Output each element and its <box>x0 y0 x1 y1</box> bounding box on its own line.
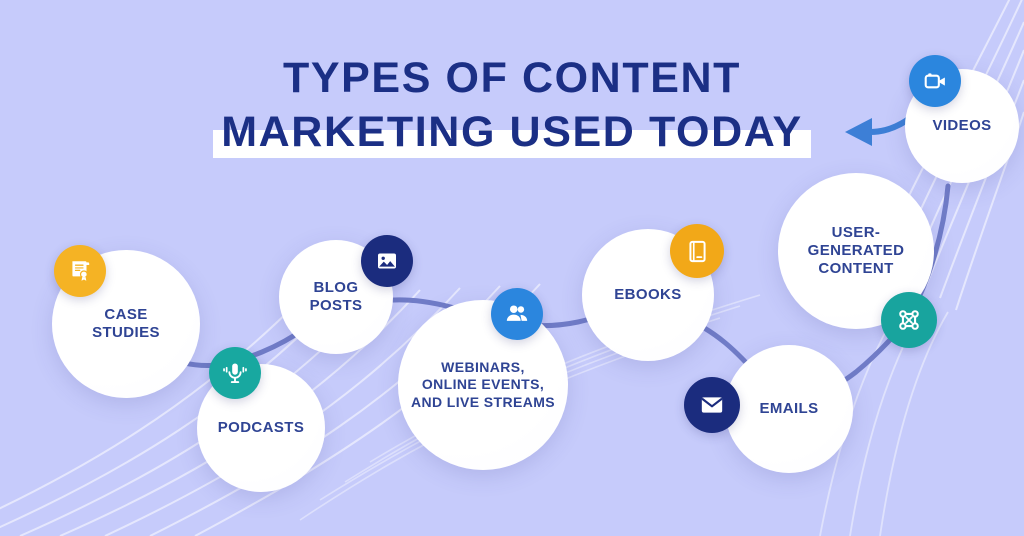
network-share-icon[interactable] <box>881 292 937 348</box>
title-highlight-band <box>213 130 811 158</box>
bubble-emails[interactable]: EMAILS <box>725 345 853 473</box>
bubble-label-case-studies: CASE STUDIES <box>86 306 166 343</box>
book-icon[interactable] <box>670 224 724 278</box>
bubble-label-user-generated-content: USER-GENERATED CONTENT <box>778 224 934 279</box>
bubble-label-ebooks: EBOOKS <box>608 286 687 304</box>
bubble-label-webinars: WEBINARS, ONLINE EVENTS, AND LIVE STREAM… <box>405 359 561 410</box>
title-line-1: TYPES OF CONTENT <box>283 52 741 104</box>
bubble-label-emails: EMAILS <box>753 400 824 418</box>
title-line-2-wrapper: MARKETING USED TODAY <box>221 106 803 158</box>
video-camera-icon[interactable] <box>909 55 961 107</box>
users-icon[interactable] <box>491 288 543 340</box>
envelope-icon[interactable] <box>684 377 740 433</box>
infographic-canvas: TYPES OF CONTENT MARKETING USED TODAY CA… <box>0 0 1024 536</box>
bubble-webinars[interactable]: WEBINARS, ONLINE EVENTS, AND LIVE STREAM… <box>398 300 568 470</box>
page-title: TYPES OF CONTENT MARKETING USED TODAY <box>0 52 1024 159</box>
image-icon[interactable] <box>361 235 413 287</box>
bubble-label-videos: VIDEOS <box>926 117 997 135</box>
bubble-label-blog-posts: BLOG POSTS <box>304 279 369 316</box>
title-line-2: MARKETING USED TODAY <box>221 106 803 158</box>
microphone-icon[interactable] <box>209 347 261 399</box>
certificate-icon[interactable] <box>54 245 106 297</box>
bubble-label-podcasts: PODCASTS <box>212 419 311 437</box>
